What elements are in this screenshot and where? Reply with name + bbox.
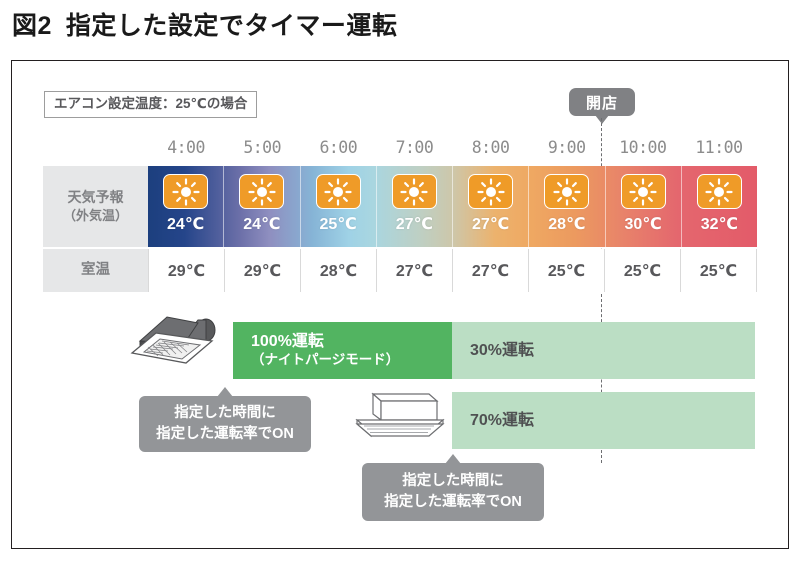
operation-bar-100[interactable]: 100%運転 （ナイトパージモード）	[233, 322, 452, 379]
sun-icon	[468, 174, 513, 209]
weather-cell: 32℃	[682, 166, 757, 247]
table-row-weather: 天気予報 （外気温）	[43, 166, 757, 247]
outdoor-temp: 27℃	[472, 214, 509, 234]
sun-icon	[316, 174, 361, 209]
sun-icon	[621, 174, 666, 209]
sun-icon	[163, 174, 208, 209]
time-tick: 6:00	[300, 134, 376, 162]
sun-icon	[544, 174, 589, 209]
outdoor-temp: 24℃	[167, 214, 204, 234]
outdoor-temp: 27℃	[396, 214, 433, 234]
callout-ac-timer: 指定した時間に 指定した運転率でON	[362, 463, 544, 521]
weather-cell: 27℃	[453, 166, 529, 247]
room-temp-strip: 29℃ 29℃ 28℃ 27℃ 27℃ 25℃ 25℃ 25℃	[148, 249, 757, 292]
weather-cell: 28℃	[529, 166, 605, 247]
operation-bar-100-sub: （ナイトパージモード）	[251, 352, 399, 369]
time-tick: 5:00	[224, 134, 300, 162]
forecast-table: 天気予報 （外気温）	[43, 166, 757, 292]
room-row-label: 室温	[43, 249, 148, 292]
room-temp-cell: 27℃	[377, 249, 453, 292]
room-temp-cell: 25℃	[681, 249, 757, 292]
ventilation-fan-icon	[126, 311, 226, 378]
weather-cell: 27℃	[377, 166, 453, 247]
weather-row-label-main: 天気予報	[68, 188, 124, 207]
weather-cell: 30℃	[606, 166, 682, 247]
operation-bar-30[interactable]: 30%運転	[452, 322, 755, 379]
figure-root: 図2指定した設定でタイマー運転 エアコン設定温度：25℃の場合 開店 4:00 …	[0, 0, 800, 565]
callout-ac-timer-line2: 指定した運転率でON	[384, 492, 522, 513]
weather-cell: 24℃	[148, 166, 224, 247]
callout-fan-timer-line2: 指定した運転率でON	[156, 424, 294, 445]
room-temp-cell: 29℃	[225, 249, 301, 292]
store-open-label: 開店	[586, 92, 618, 113]
figure-number: 図2	[12, 12, 52, 40]
time-tick: 10:00	[605, 134, 681, 162]
table-row-room-temp: 室温 29℃ 29℃ 28℃ 27℃ 27℃ 25℃ 25℃ 25℃	[43, 249, 757, 292]
operation-bar-70[interactable]: 70%運転	[452, 392, 755, 449]
weather-cell: 24℃	[224, 166, 300, 247]
figure-title-text: 指定した設定でタイマー運転	[66, 12, 398, 40]
time-axis: 4:00 5:00 6:00 7:00 8:00 9:00 10:00 11:0…	[148, 134, 757, 162]
operation-bar-70-main: 70%運転	[470, 411, 534, 431]
room-temp-cell: 25℃	[529, 249, 605, 292]
ac-setpoint-note: エアコン設定温度：25℃の場合	[44, 91, 257, 118]
callout-ac-timer-line1: 指定した時間に	[402, 471, 504, 492]
outdoor-temp: 24℃	[243, 214, 280, 234]
air-conditioner-icon	[351, 388, 449, 447]
weather-row-label-sub: （外気温）	[63, 207, 128, 225]
sun-icon	[392, 174, 437, 209]
callout-fan-timer-line1: 指定した時間に	[174, 403, 276, 424]
time-tick: 7:00	[376, 134, 452, 162]
weather-gradient-strip: 24℃ 24℃	[148, 166, 757, 247]
sun-icon	[239, 174, 284, 209]
operation-bar-30-main: 30%運転	[470, 341, 534, 361]
time-tick: 9:00	[529, 134, 605, 162]
outdoor-temp: 28℃	[548, 214, 585, 234]
page-title: 図2指定した設定でタイマー運転	[12, 6, 397, 42]
outdoor-temp: 25℃	[320, 214, 357, 234]
callout-fan-timer: 指定した時間に 指定した運転率でON	[139, 396, 311, 452]
time-tick: 4:00	[148, 134, 224, 162]
weather-row-label: 天気予報 （外気温）	[43, 166, 148, 247]
room-temp-cell: 25℃	[605, 249, 681, 292]
store-open-badge: 開店	[569, 88, 635, 116]
weather-cell: 25℃	[301, 166, 377, 247]
outdoor-temp: 32℃	[701, 214, 738, 234]
sun-icon	[697, 174, 742, 209]
room-temp-cell: 29℃	[148, 249, 225, 292]
room-temp-cell: 28℃	[301, 249, 377, 292]
time-tick: 8:00	[453, 134, 529, 162]
outdoor-temp: 30℃	[625, 214, 662, 234]
room-temp-cell: 27℃	[453, 249, 529, 292]
time-tick: 11:00	[681, 134, 757, 162]
operation-bar-100-main: 100%運転	[251, 332, 324, 352]
